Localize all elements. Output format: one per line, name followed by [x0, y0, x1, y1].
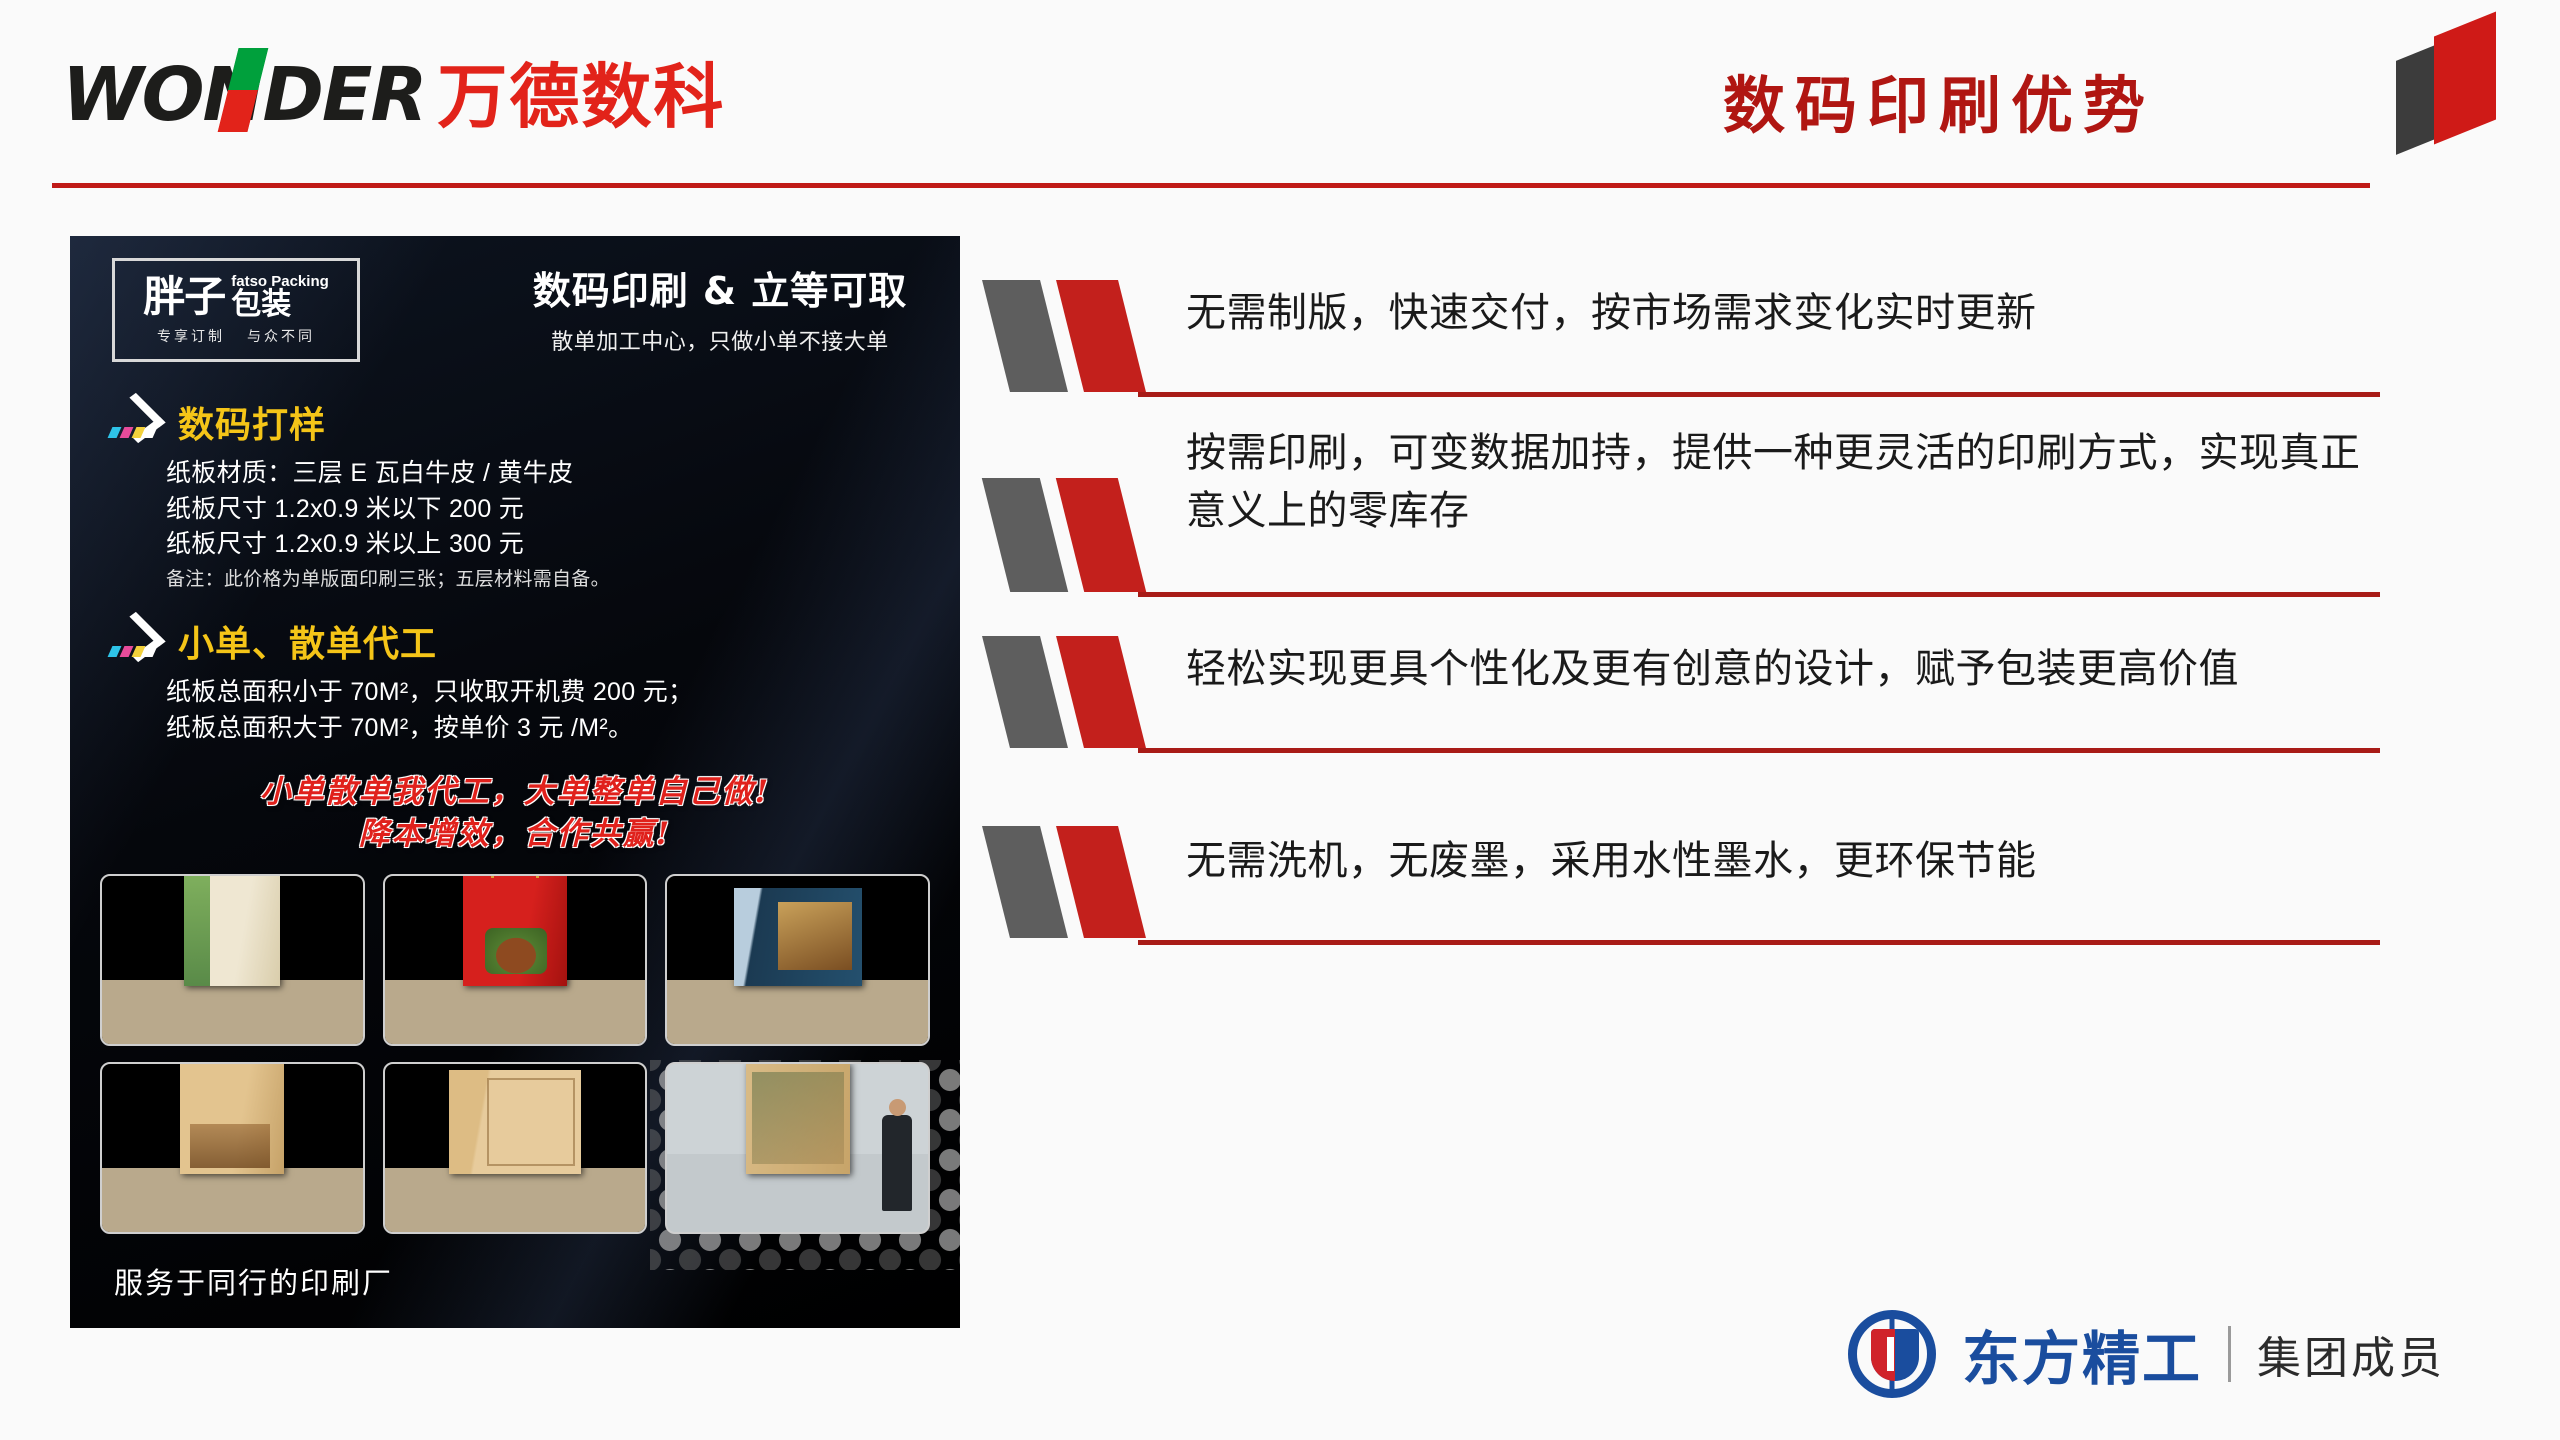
chevron-right-icon [110, 618, 164, 664]
advantage-item: 无需洗机，无废墨，采用水性墨水，更环保节能 [990, 794, 2400, 890]
advantage-text: 轻松实现更具个性化及更有创意的设计，赋予包装更高价值 [1186, 632, 2400, 698]
slogan-line-2: 降本增效，合作共赢! [70, 814, 960, 856]
advantage-text: 按需印刷，可变数据加持，提供一种更灵活的印刷方式，实现真正意义上的零库存 [1186, 416, 2400, 540]
poster-headline-block: 数码印刷 & 立等可取 散单加工中心，只做小单不接大单 [500, 260, 940, 356]
advantage-text: 无需洗机，无废墨，采用水性墨水，更环保节能 [1186, 794, 2400, 890]
section-line: 纸板尺寸 1.2x0.9 米以下 200 元 [166, 492, 960, 528]
footer-divider [2228, 1326, 2231, 1382]
group-logo: 东方精工 集团成员 [1848, 1310, 2445, 1398]
slanted-bars-icon [990, 632, 1162, 750]
poster-section-sampling: 数码打样 纸板材质：三层 E 瓦白牛皮 / 黄牛皮 纸板尺寸 1.2x0.9 米… [70, 396, 960, 593]
group-company-name: 东方精工 [1962, 1312, 2202, 1396]
product-photo [665, 874, 930, 1046]
slide: WONDER 万德数科 数码印刷优势 胖子 fatso Packing 包装 专… [0, 0, 2560, 1440]
product-photo [383, 874, 648, 1046]
product-photo [100, 1062, 365, 1234]
slanted-bars-icon [990, 474, 1162, 592]
poster-subhead: 散单加工中心，只做小单不接大单 [500, 324, 940, 356]
section-note: 备注：此价格为单版面印刷三张；五层材料需自备。 [166, 567, 960, 594]
poster-section-oem: 小单、散单代工 纸板总面积小于 70M²，只收取开机费 200 元； 纸板总面积… [70, 615, 960, 746]
fatso-logo-mark: 胖子 [143, 276, 225, 318]
advantage-underline [1138, 592, 2380, 597]
section-line: 纸板尺寸 1.2x0.9 米以上 300 元 [166, 527, 960, 563]
section-title: 数码打样 [178, 396, 326, 448]
advantage-underline [1138, 392, 2380, 397]
brand-logo: WONDER 万德数科 [62, 52, 725, 132]
product-photo [383, 1062, 648, 1234]
section-line: 纸板总面积大于 70M²，按单价 3 元 /M²。 [166, 711, 960, 747]
slanted-bars-icon [990, 822, 1162, 940]
fatso-tag-right: 与众不同 [247, 326, 315, 346]
chevron-right-icon [110, 399, 164, 445]
section-line: 纸板总面积小于 70M²，只收取开机费 200 元； [166, 675, 960, 711]
poster-slogan: 小单散单我代工，大单整单自己做! 降本增效，合作共赢! [70, 772, 960, 855]
group-member-label: 集团成员 [2257, 1322, 2445, 1386]
poster-footer-text: 服务于同行的印刷厂 [114, 1260, 393, 1302]
advantage-text: 无需制版，快速交付，按市场需求变化实时更新 [1186, 276, 2400, 342]
section-title: 小单、散单代工 [178, 615, 437, 667]
fatso-tag-left: 专享订制 [157, 326, 225, 346]
fatso-logo: 胖子 fatso Packing 包装 专享订制 与众不同 [112, 258, 360, 362]
poster-headline: 数码印刷 & 立等可取 [500, 260, 940, 315]
slogan-line-1: 小单散单我代工，大单整单自己做! [70, 772, 960, 814]
advantage-item: 按需印刷，可变数据加持，提供一种更灵活的印刷方式，实现真正意义上的零库存 [990, 416, 2400, 540]
section-line: 纸板材质：三层 E 瓦白牛皮 / 黄牛皮 [166, 456, 960, 492]
dongfang-emblem-icon [1848, 1310, 1936, 1398]
brand-logo-chinese: 万德数科 [437, 62, 725, 132]
advantage-item: 无需制版，快速交付，按市场需求变化实时更新 [990, 276, 2400, 342]
product-photo [100, 874, 365, 1046]
promo-poster: 胖子 fatso Packing 包装 专享订制 与众不同 数码印刷 & 立等可… [70, 236, 960, 1328]
header-divider [52, 183, 2370, 188]
advantage-underline [1138, 940, 2380, 945]
advantage-item: 轻松实现更具个性化及更有创意的设计，赋予包装更高价值 [990, 632, 2400, 698]
page-title: 数码印刷优势 [1723, 55, 2155, 145]
corner-fold-icon [2392, 18, 2502, 146]
advantage-underline [1138, 748, 2380, 753]
fatso-logo-word: 包装 [231, 290, 291, 320]
advantages-list: 无需制版，快速交付，按市场需求变化实时更新 按需印刷，可变数据加持，提供一种更灵… [990, 276, 2400, 964]
product-photo-grid [100, 874, 930, 1234]
slanted-bars-icon [990, 276, 1162, 394]
product-photo [665, 1062, 930, 1234]
poster-header: 胖子 fatso Packing 包装 专享订制 与众不同 数码印刷 & 立等可… [70, 236, 960, 386]
